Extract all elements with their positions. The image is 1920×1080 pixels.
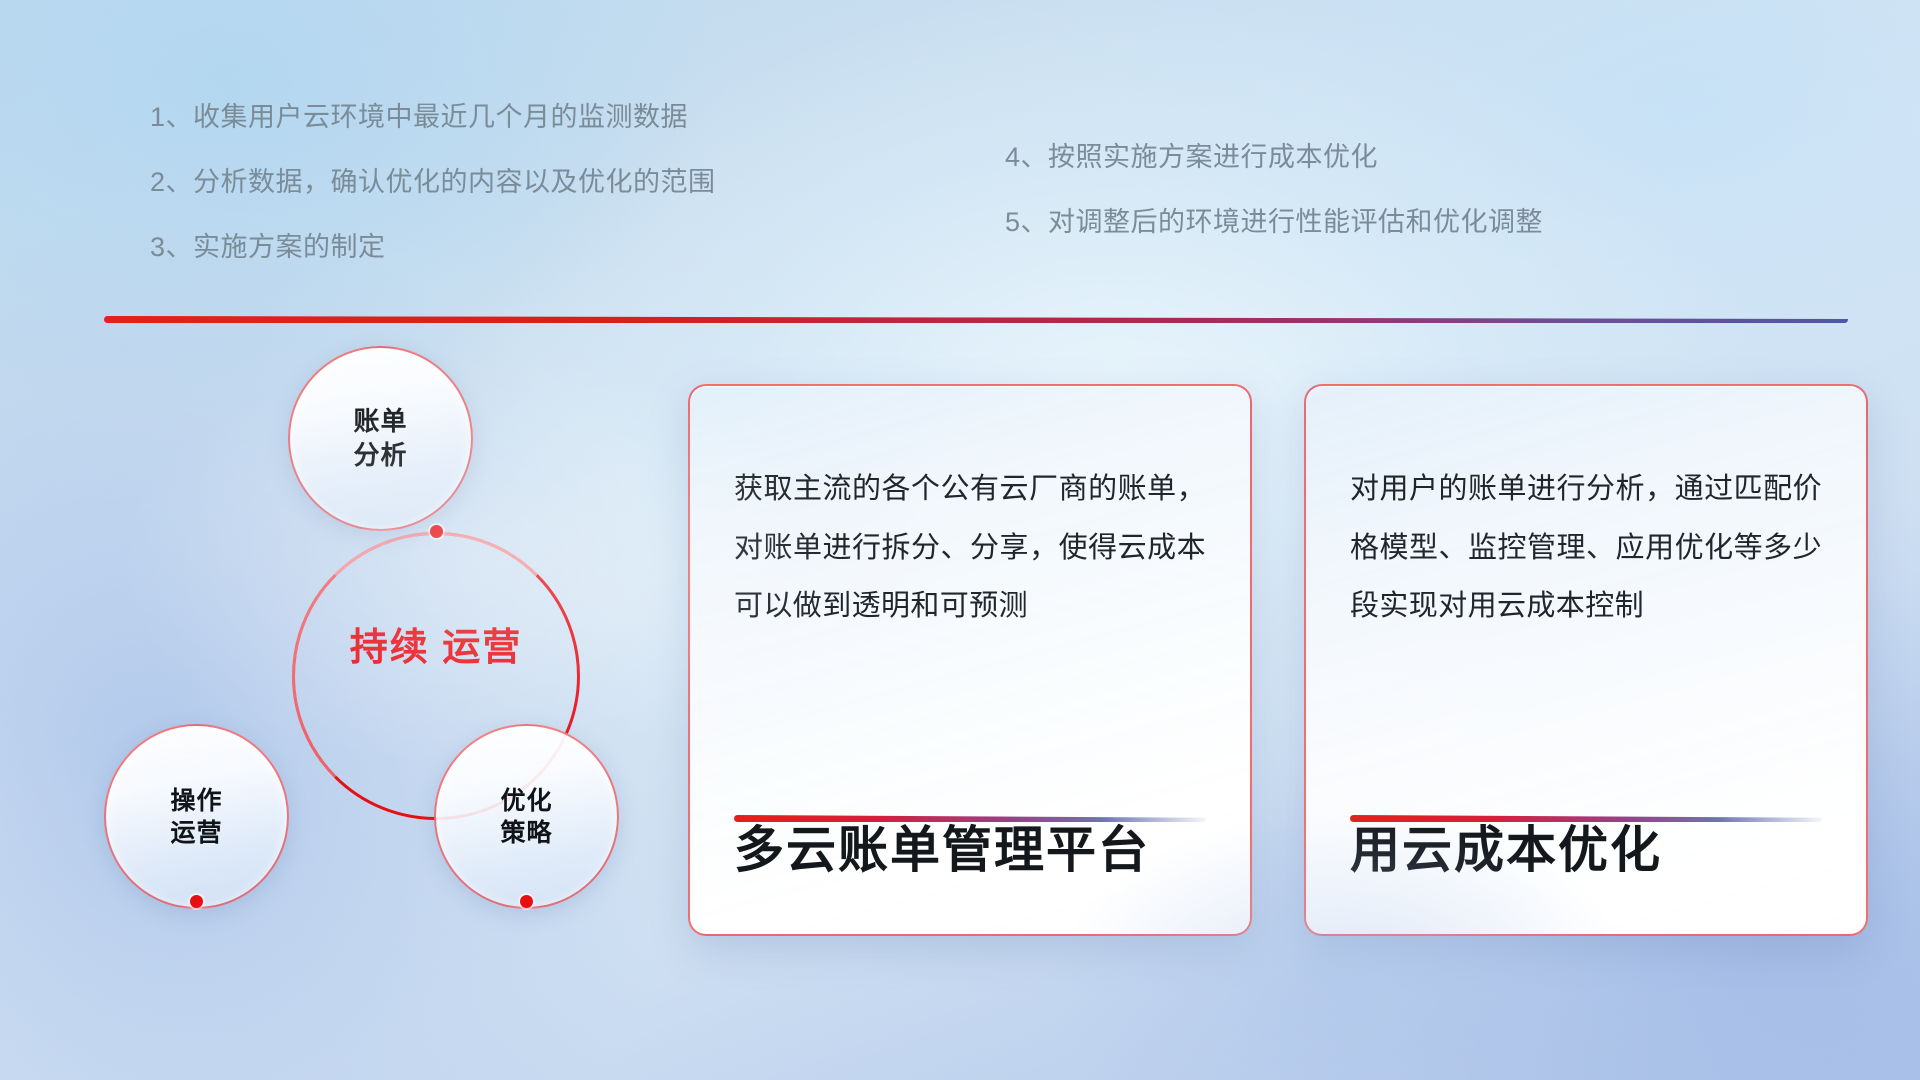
steps-column-right: 4、按照实施方案进行成本优化 5、对调整后的环境进行性能评估和优化调整	[1005, 144, 1543, 236]
cards-section: 获取主流的各个公有云厂商的账单，对账单进行拆分、分享，使得云成本可以做到透明和可…	[688, 384, 1868, 944]
slide-background: 1、收集用户云环境中最近几个月的监测数据 2、分析数据，确认优化的内容以及优化的…	[0, 0, 1920, 1080]
step-item-1: 1、收集用户云环境中最近几个月的监测数据	[150, 104, 716, 131]
step-item-3: 3、实施方案的制定	[150, 234, 716, 261]
card-title: 多云账单管理平台	[734, 810, 1150, 882]
bubble-optimization-strategy-line1: 优化	[500, 785, 552, 817]
circle-diagram: 持续 运营 账单 分析 操作 运营 优化 策略	[96, 346, 566, 946]
node-dot-top-icon	[430, 525, 443, 538]
section-divider	[104, 316, 1848, 323]
card-body-text: 获取主流的各个公有云厂商的账单，对账单进行拆分、分享，使得云成本可以做到透明和可…	[734, 460, 1206, 636]
center-label: 持续 运营	[292, 626, 580, 672]
step-item-2: 2、分析数据，确认优化的内容以及优化的范围	[150, 169, 716, 196]
center-label-line1: 持续	[350, 627, 430, 669]
bubble-operations[interactable]: 操作 运营	[104, 724, 289, 909]
center-label-line2: 运营	[442, 627, 522, 669]
bubble-optimization-strategy[interactable]: 优化 策略	[434, 724, 619, 909]
bubble-bill-analysis[interactable]: 账单 分析	[288, 346, 473, 531]
bubble-operations-line1: 操作	[170, 785, 222, 817]
bubble-optimization-strategy-line2: 策略	[500, 817, 552, 849]
bubble-bill-analysis-line1: 账单	[353, 405, 407, 438]
divider-bar	[104, 316, 1848, 323]
card-multicloud-billing-platform[interactable]: 获取主流的各个公有云厂商的账单，对账单进行拆分、分享，使得云成本可以做到透明和可…	[688, 384, 1252, 936]
bubble-bill-analysis-line2: 分析	[353, 439, 407, 472]
steps-section: 1、收集用户云环境中最近几个月的监测数据 2、分析数据，确认优化的内容以及优化的…	[0, 96, 1920, 286]
steps-column-left: 1、收集用户云环境中最近几个月的监测数据 2、分析数据，确认优化的内容以及优化的…	[150, 104, 716, 261]
step-item-4: 4、按照实施方案进行成本优化	[1005, 144, 1543, 171]
bubble-operations-line2: 运营	[170, 817, 222, 849]
node-dot-left-icon	[190, 895, 203, 908]
node-dot-right-icon	[520, 895, 533, 908]
step-item-5: 5、对调整后的环境进行性能评估和优化调整	[1005, 209, 1543, 236]
card-cloud-cost-optimization[interactable]: 对用户的账单进行分析，通过匹配价格模型、监控管理、应用优化等多少段实现对用云成本…	[1304, 384, 1868, 936]
card-title: 用云成本优化	[1350, 810, 1662, 882]
card-body-text: 对用户的账单进行分析，通过匹配价格模型、监控管理、应用优化等多少段实现对用云成本…	[1350, 460, 1822, 636]
